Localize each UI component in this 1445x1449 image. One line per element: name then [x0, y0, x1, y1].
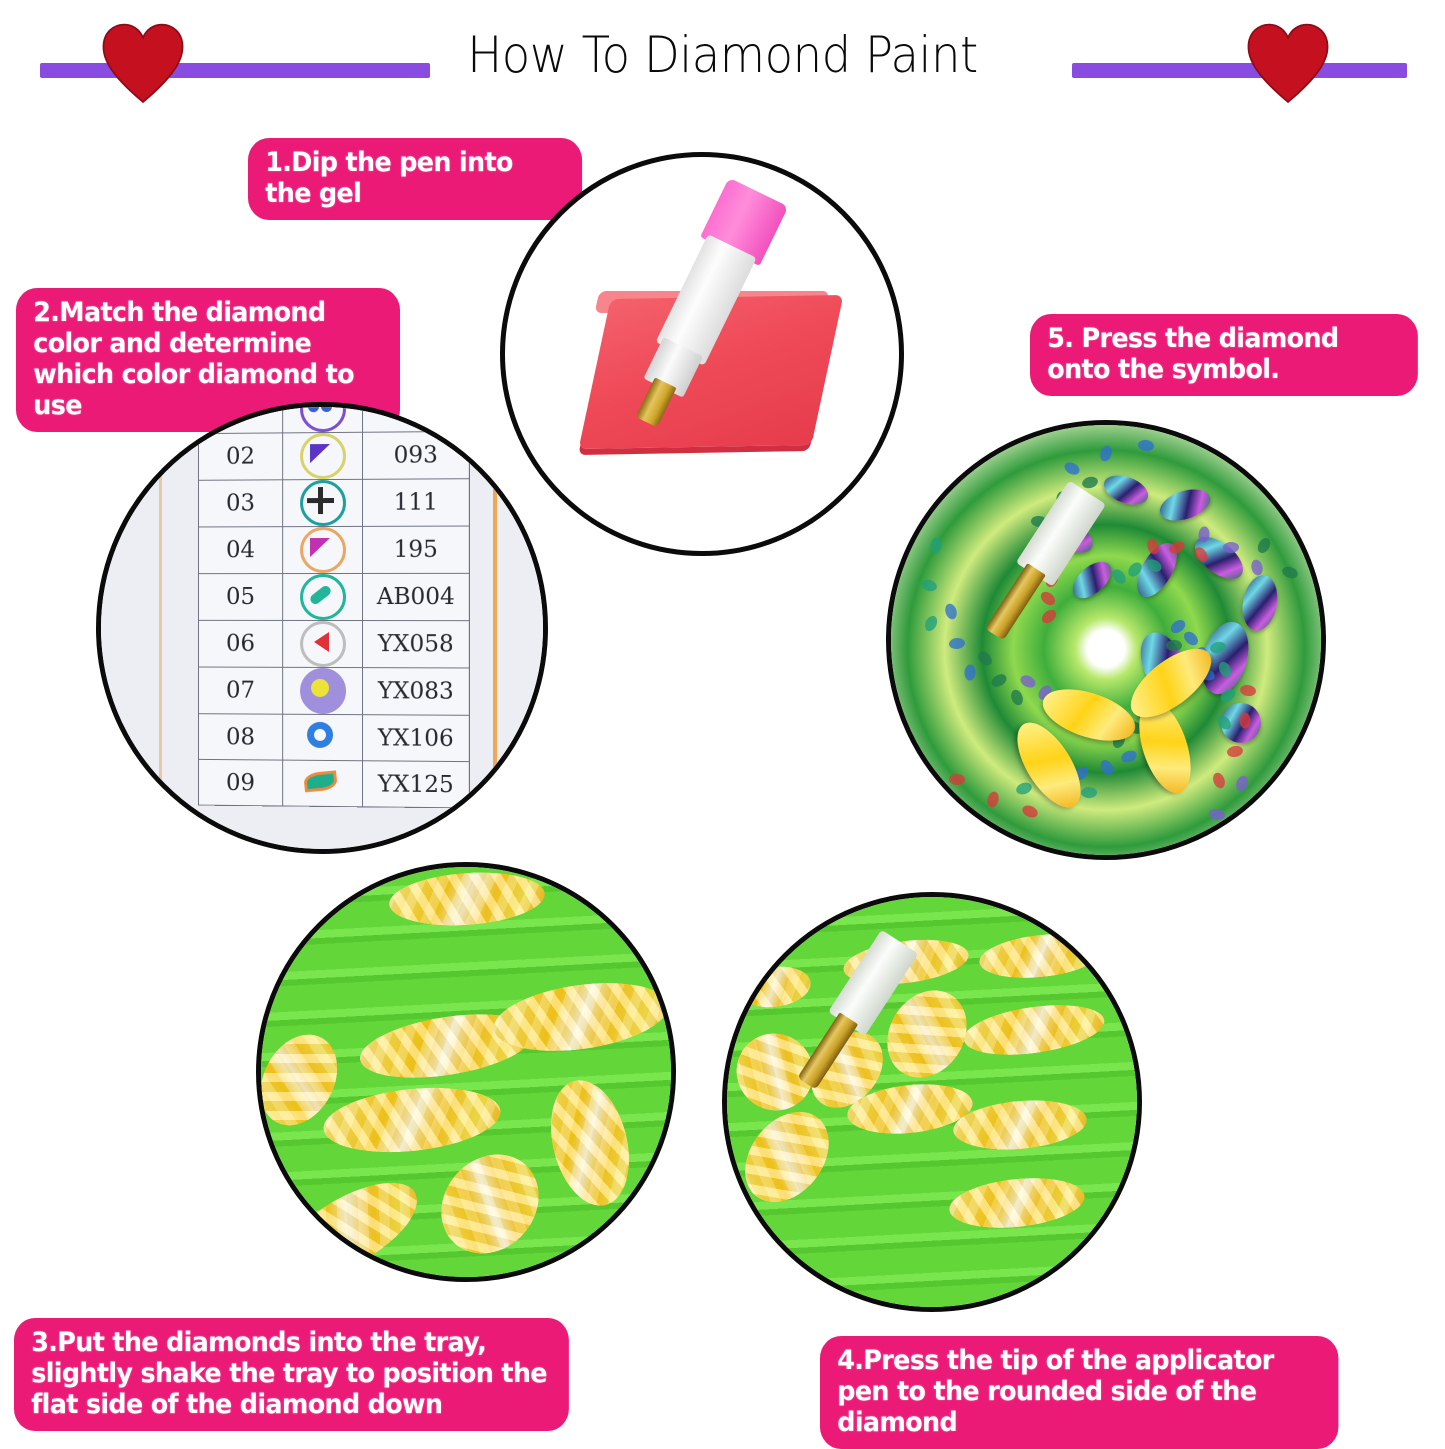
- symbol-row-number: 02: [198, 433, 282, 480]
- symbol-row-number: 03: [198, 480, 282, 527]
- symbol-row-glyph: [283, 573, 363, 620]
- yellow-diamond: [960, 997, 1107, 1062]
- symbol-row-number: 04: [198, 527, 282, 574]
- canvas-printed-dot: [1208, 807, 1226, 821]
- symbol-row-glyph: [283, 760, 363, 807]
- canvas-printed-dot: [1226, 745, 1244, 759]
- mandala-canvas-photo: [891, 425, 1321, 855]
- canvas-printed-dot: [1234, 774, 1250, 793]
- step-2-image: 02802093031110419505AB00406YX05807YX0830…: [96, 402, 548, 854]
- yellow-diamond: [421, 1135, 559, 1274]
- double-dot-icon: [300, 402, 346, 432]
- diamond-tray-photo: [261, 867, 671, 1277]
- canvas-printed-dot: [1211, 771, 1227, 790]
- diamond-pickup-photo: [727, 897, 1137, 1307]
- canvas-printed-dot: [923, 614, 940, 633]
- canvas-printed-dot: [1015, 781, 1034, 797]
- canvas-printed-dot: [920, 578, 938, 593]
- yellow-diamond: [728, 1095, 846, 1218]
- triangle-icon: [300, 433, 346, 479]
- canvas-printed-dot: [1255, 536, 1273, 555]
- step-5-caption: 5. Press the diamond onto the symbol.: [1030, 314, 1418, 396]
- sheet-edge-left: [159, 407, 162, 849]
- canvas-jewel: [1100, 470, 1152, 510]
- canvas-printed-dot: [1239, 712, 1250, 728]
- yellow-diamond: [737, 962, 814, 1012]
- symbol-row-code: 195: [362, 526, 469, 573]
- canvas-printed-dot: [976, 649, 995, 668]
- symbol-row-glyph: [283, 526, 363, 573]
- canvas-printed-dot: [949, 773, 966, 785]
- canvas-printed-dot: [1081, 475, 1099, 490]
- symbol-row-code: YX106: [362, 715, 469, 762]
- canvas-printed-dot: [1181, 629, 1200, 648]
- symbol-row-glyph: [283, 402, 363, 433]
- symbol-row-glyph: [283, 432, 363, 480]
- canvas-printed-dot: [1018, 673, 1037, 690]
- canvas-printed-dot: [1120, 748, 1139, 764]
- dot-in-ring-icon: [300, 668, 346, 714]
- canvas-printed-dot: [1098, 758, 1116, 777]
- symbol-chart-row: 04195: [198, 526, 469, 574]
- symbol-chart-row: 06YX058: [198, 620, 469, 668]
- symbol-chart-photo: 02802093031110419505AB00406YX05807YX0830…: [101, 407, 543, 849]
- symbol-chart-row: 08YX106: [198, 714, 469, 762]
- symbol-row-number: 07: [198, 667, 282, 714]
- yellow-diamond: [539, 1072, 642, 1214]
- symbol-row-glyph: [283, 620, 363, 667]
- symbol-row-code: 028: [362, 402, 469, 432]
- page-title: How To Diamond Paint: [51, 26, 1395, 84]
- canvas-printed-dot: [1098, 444, 1113, 463]
- canvas-printed-dot: [1223, 542, 1240, 554]
- canvas-printed-dot: [930, 537, 943, 554]
- triangle-icon: [300, 527, 346, 573]
- pen-dip-photo: [505, 157, 899, 551]
- canvas-printed-dot: [1009, 688, 1025, 707]
- yellow-diamond: [947, 1172, 1087, 1234]
- canvas-printed-dot: [1081, 787, 1097, 798]
- symbol-row-glyph: [283, 714, 363, 761]
- capsule-icon: [300, 574, 346, 620]
- pen-tip: [985, 563, 1046, 640]
- canvas-printed-dot: [1250, 558, 1264, 576]
- canvas-printed-dot: [986, 790, 1001, 808]
- canvas-printed-dot: [943, 602, 958, 621]
- symbol-row-number: 06: [198, 620, 282, 667]
- step-3-image: [256, 862, 676, 1282]
- symbol-row-code: 111: [362, 479, 469, 527]
- canvas-printed-dot: [948, 637, 965, 650]
- symbol-row-code: YX125: [362, 761, 469, 808]
- canvas-printed-dot: [1239, 684, 1257, 697]
- symbol-chart-row: 028: [198, 402, 469, 434]
- canvas-printed-dot: [1020, 803, 1039, 820]
- symbol-chart-row: 02093: [198, 431, 469, 480]
- page-header: How To Diamond Paint: [0, 0, 1445, 120]
- canvas-printed-dot: [1281, 565, 1300, 581]
- symbol-row-code: YX058: [362, 621, 469, 668]
- canvas-printed-dot: [989, 672, 1008, 690]
- chevron-left-icon: [300, 621, 346, 667]
- symbol-chart-table: 02802093031110419505AB00406YX05807YX0830…: [198, 402, 470, 808]
- symbol-row-glyph: [283, 479, 363, 526]
- canvas-printed-dot: [1166, 640, 1182, 651]
- yellow-diamond: [269, 1164, 432, 1282]
- canvas-printed-dot: [964, 664, 976, 681]
- applicator-pen: [973, 478, 1109, 649]
- step-5-image: [886, 420, 1326, 860]
- symbol-chart-row: 09YX125: [198, 759, 469, 808]
- canvas-printed-dot: [1110, 567, 1129, 586]
- symbol-chart-body: 02802093031110419505AB00406YX05807YX0830…: [198, 402, 469, 808]
- step-4-caption: 4.Press the tip of the applicator pen to…: [820, 1336, 1338, 1449]
- plus-icon: [300, 480, 346, 526]
- symbol-row-glyph: [283, 667, 363, 714]
- yellow-diamond: [387, 868, 546, 931]
- symbol-chart-row: 07YX083: [198, 667, 469, 715]
- symbol-row-code: 093: [362, 431, 469, 479]
- symbol-row-number: 05: [198, 574, 282, 621]
- canvas-printed-dot: [1062, 460, 1081, 477]
- symbol-row-number: 08: [198, 714, 282, 760]
- canvas-jewel: [1238, 572, 1281, 633]
- ring-icon: [303, 717, 343, 757]
- step-1-image: [500, 152, 904, 556]
- step-4-image: [722, 892, 1142, 1312]
- symbol-row-number: 09: [198, 759, 282, 806]
- step-3-caption: 3.Put the diamonds into the tray, slight…: [14, 1318, 569, 1431]
- symbol-chart-row: 05AB004: [198, 573, 469, 620]
- sheet-edge-right: [493, 407, 497, 849]
- canvas-printed-dot: [1137, 439, 1154, 452]
- canvas-jewel: [1156, 484, 1214, 527]
- symbol-row-code: YX083: [362, 668, 469, 716]
- symbol-row-code: AB004: [362, 573, 469, 620]
- yellow-diamond: [320, 1080, 504, 1160]
- yellow-diamond: [977, 929, 1105, 984]
- symbol-chart-row: 03111: [198, 479, 469, 527]
- symbol-row-number: [198, 402, 282, 434]
- pen-tip: [797, 1012, 858, 1089]
- leaf-icon: [303, 763, 343, 803]
- canvas-jewel: [1066, 555, 1118, 605]
- pen-tip: [636, 377, 677, 427]
